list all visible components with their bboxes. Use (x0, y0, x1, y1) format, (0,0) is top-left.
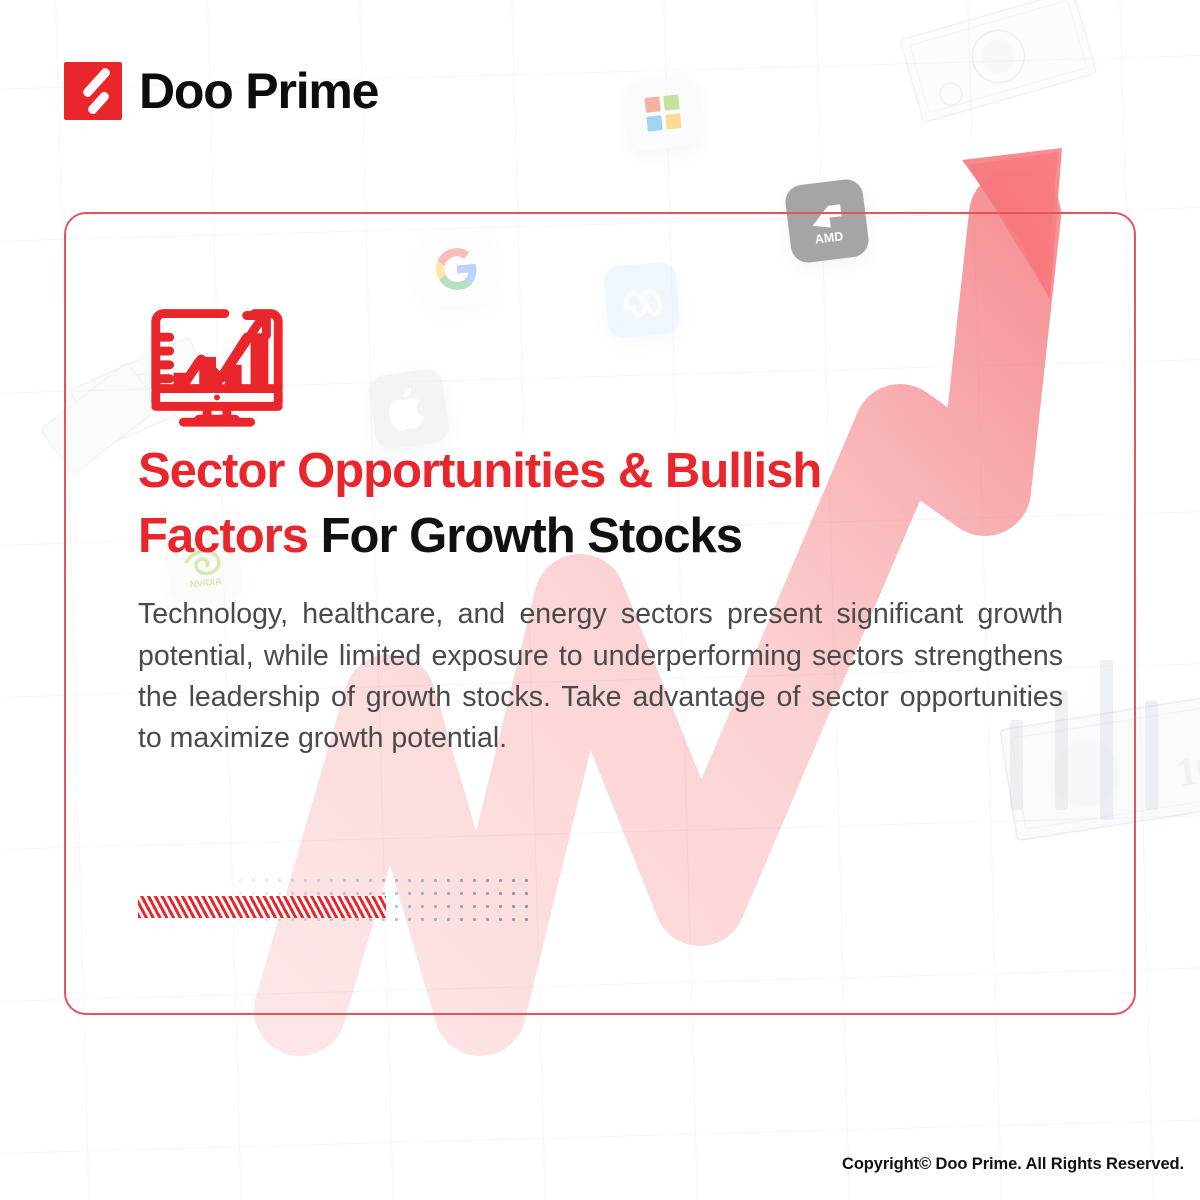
content-card: Sector Opportunities & Bullish Factors F… (64, 212, 1136, 1015)
body-paragraph: Technology, healthcare, and energy secto… (138, 594, 1063, 759)
doo-prime-logo-mark (64, 62, 122, 120)
brand-name-part1: Doo (139, 63, 233, 119)
headline-plain: For Growth Stocks (308, 509, 742, 563)
brand-name: Doo Prime (139, 62, 378, 120)
brand-name-part2: Prime (245, 63, 378, 119)
microsoft-logo-icon (625, 75, 702, 152)
monitor-bar-chart-growth-icon (138, 276, 296, 434)
copyright-text: Copyright© Doo Prime. All Rights Reserve… (842, 1155, 1184, 1174)
page-title: Sector Opportunities & Bullish Factors F… (138, 439, 958, 568)
brand-logo: Doo Prime (64, 62, 378, 120)
diagonal-stripe-bar-icon (138, 896, 386, 918)
decorative-motif (138, 874, 558, 934)
microsoft-squares-glyph (644, 94, 681, 131)
